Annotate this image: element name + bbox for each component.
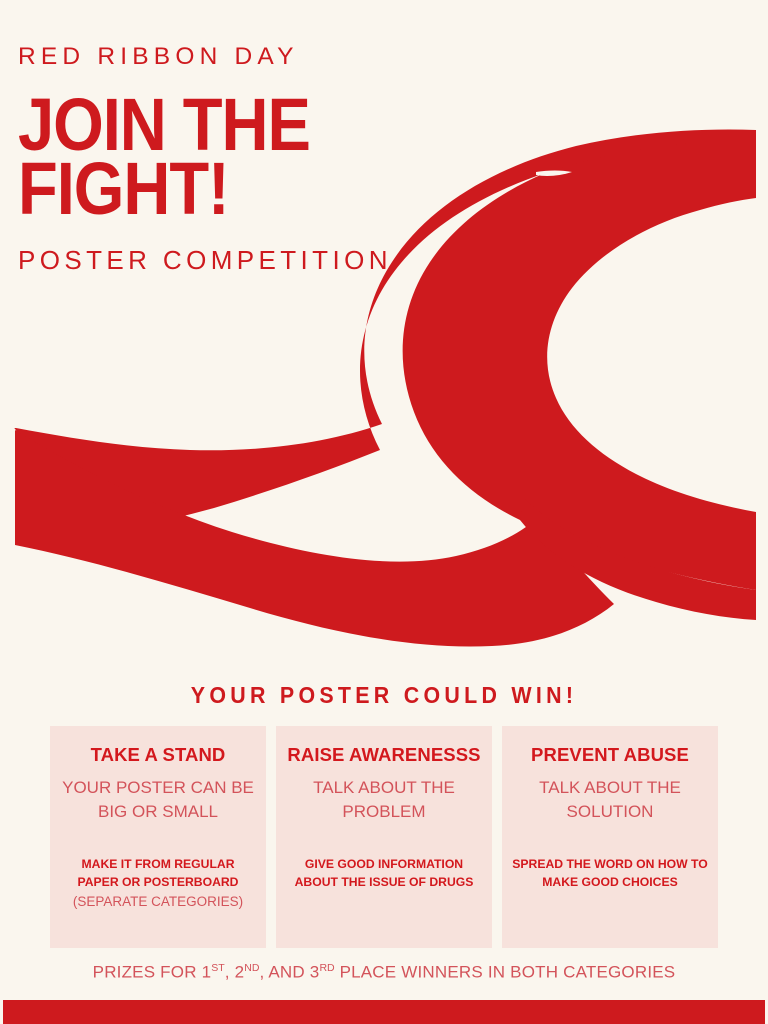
header-block: RED RIBBON DAY JOIN THE FIGHT! POSTER CO… [18,44,448,275]
panel-subnote: (SEPARATE CATEGORIES) [60,893,256,911]
panel-note: MAKE IT FROM REGULAR PAPER OR POSTERBOAR… [60,856,256,891]
subhead-poster-competition: POSTER COMPETITION [18,246,448,275]
prize-text-mid2: , AND 3 [259,963,319,982]
info-panel-take-a-stand: TAKE A STAND YOUR POSTER CAN BE BIG OR S… [50,726,266,948]
footer-accent-bar [3,1000,765,1024]
prize-text-prefix: PRIZES FOR 1 [93,963,212,982]
panel-body: TALK ABOUT THE PROBLEM [286,776,482,824]
ordinal-second: ND [244,962,259,974]
info-panel-prevent-abuse: PREVENT ABUSE TALK ABOUT THE SOLUTION SP… [502,726,718,948]
ordinal-first: ST [211,962,224,974]
panel-title: PREVENT ABUSE [512,744,708,766]
info-panel-raise-awareness: RAISE AWARENESSS TALK ABOUT THE PROBLEM … [276,726,492,948]
kicker-red-ribbon-day: RED RIBBON DAY [18,44,448,71]
panel-note: GIVE GOOD INFORMATION ABOUT THE ISSUE OF… [286,856,482,891]
page-title: JOIN THE FIGHT! [18,93,396,220]
panel-note: SPREAD THE WORD ON HOW TO MAKE GOOD CHOI… [512,856,708,891]
ordinal-third: RD [319,962,334,974]
panel-title: RAISE AWARENESSS [286,744,482,766]
prize-text-mid1: , 2 [225,963,245,982]
section-heading-could-win: YOUR POSTER COULD WIN! [27,682,741,709]
prize-info-line: PRIZES FOR 1ST, 2ND, AND 3RD PLACE WINNE… [0,962,768,983]
prize-text-suffix: PLACE WINNERS IN BOTH CATEGORIES [335,963,676,982]
info-panel-group: TAKE A STAND YOUR POSTER CAN BE BIG OR S… [50,726,718,948]
poster-canvas: RED RIBBON DAY JOIN THE FIGHT! POSTER CO… [0,0,768,1024]
panel-title: TAKE A STAND [60,744,256,766]
panel-body: TALK ABOUT THE SOLUTION [512,776,708,824]
panel-body: YOUR POSTER CAN BE BIG OR SMALL [60,776,256,824]
